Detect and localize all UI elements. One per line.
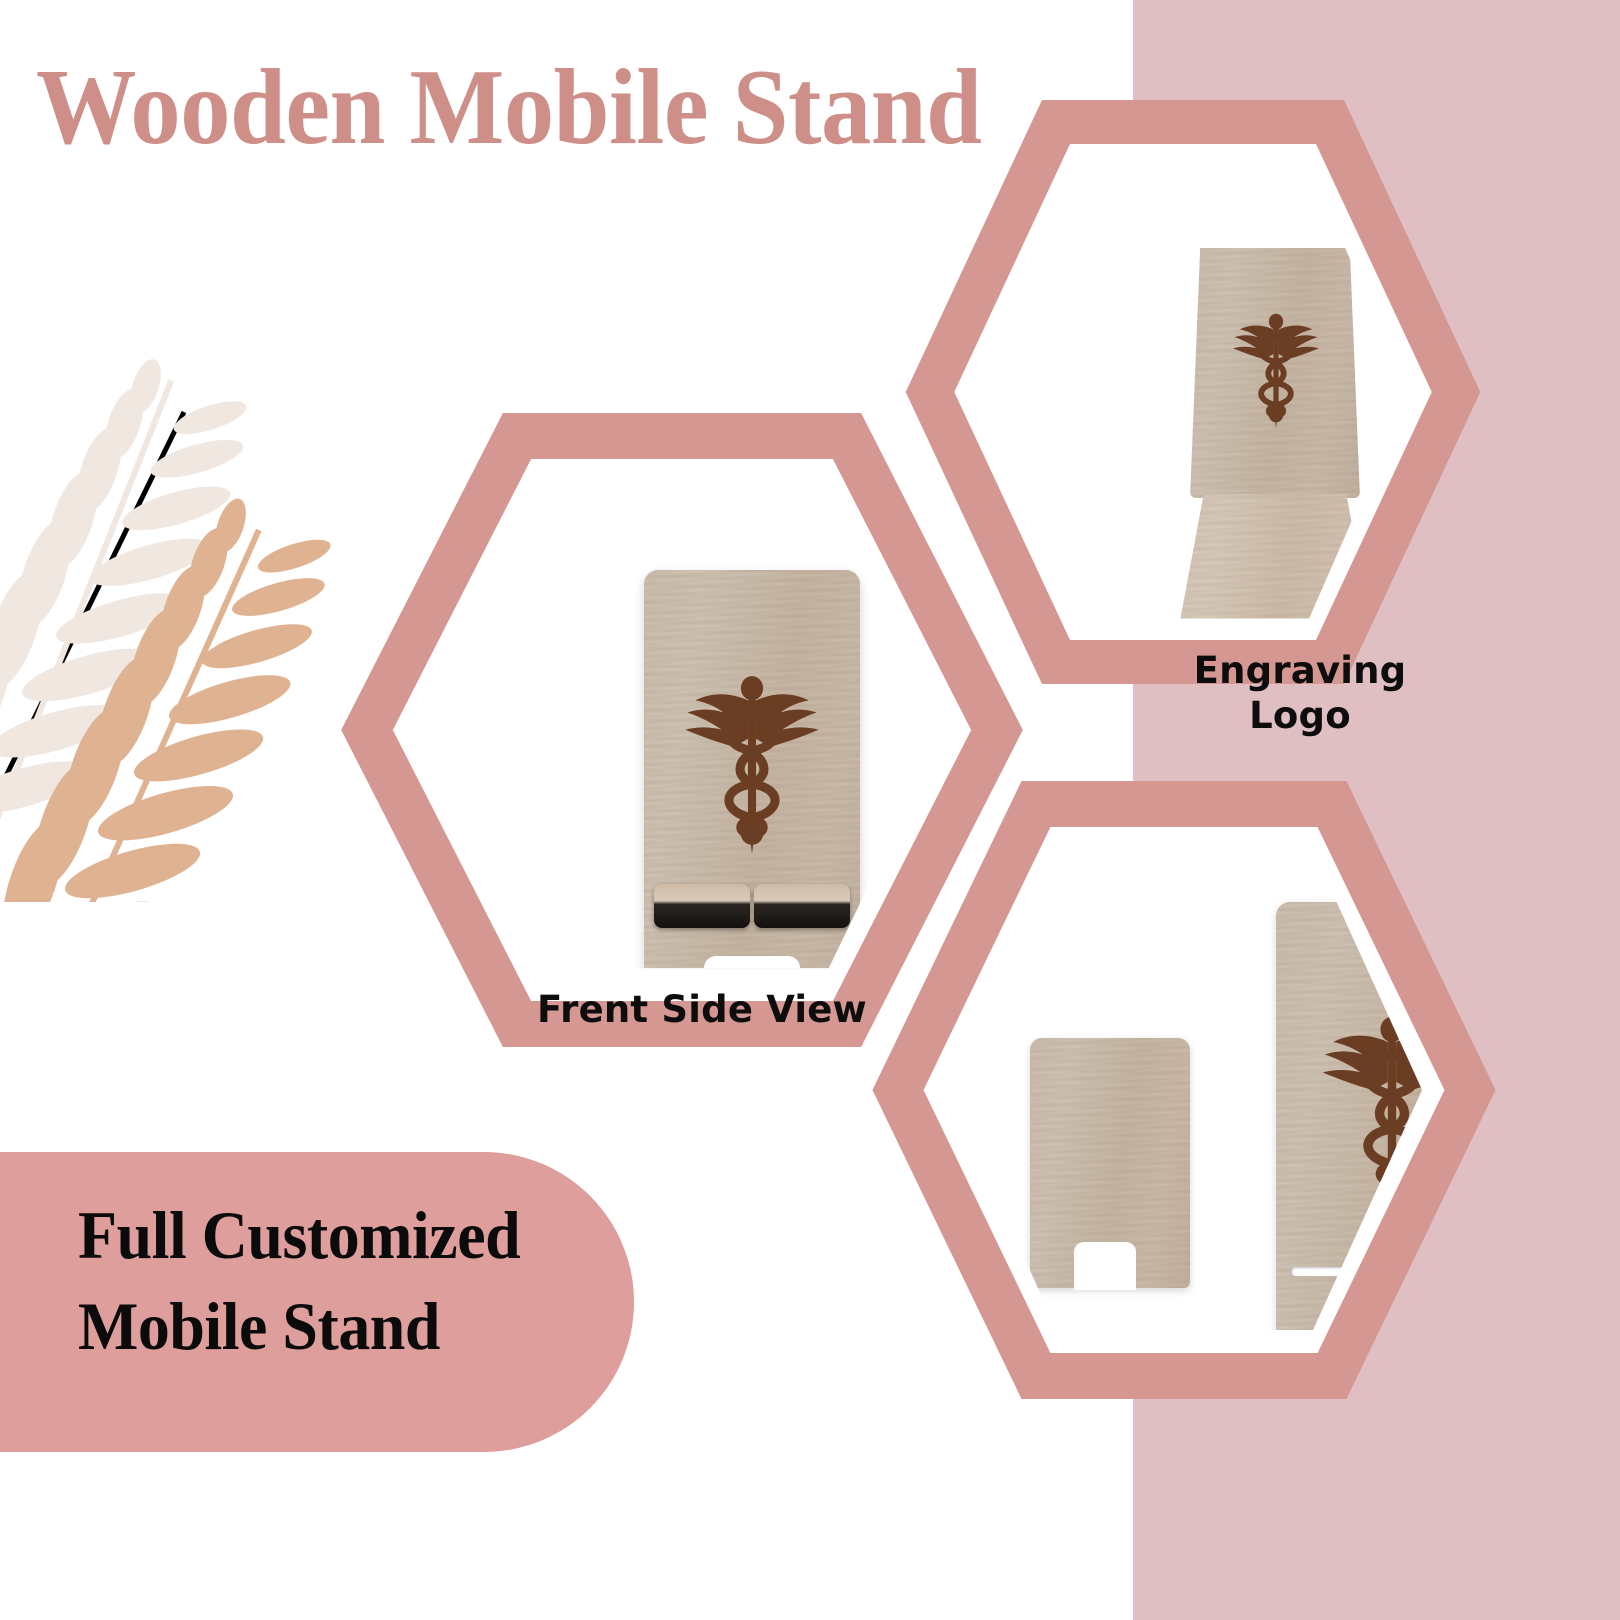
phone-ledge-right: [754, 884, 850, 928]
label-engraving-line1: Engraving: [1150, 648, 1450, 693]
caduceus-icon: [670, 666, 834, 858]
base-piece-notch: [1074, 1242, 1136, 1290]
callout-text: Full Customized Mobile Stand: [78, 1190, 604, 1372]
stand-base-piece-flat: [1030, 1038, 1190, 1288]
stand-back-panel: [1190, 248, 1360, 498]
poster-canvas: Wooden Mobile Stand: [0, 0, 1620, 1620]
callout-line-1: Full Customized: [78, 1190, 604, 1281]
hexagon-frame-bottom-right: [884, 790, 1484, 1390]
label-engraving-logo: Engraving Logo: [1150, 648, 1450, 738]
mobile-stand-front-panel: [644, 570, 860, 978]
caduceus-icon: [1224, 306, 1328, 432]
phone-ledge-left: [654, 884, 750, 928]
label-engraving-line2: Logo: [1150, 693, 1450, 738]
callout-line-2: Mobile Stand: [78, 1281, 604, 1372]
leaf-branch-decoration: [0, 262, 374, 902]
page-title: Wooden Mobile Stand: [36, 44, 975, 171]
hexagon-frame-top-right: [916, 108, 1470, 676]
label-front-side-view: Frent Side View: [512, 988, 892, 1031]
